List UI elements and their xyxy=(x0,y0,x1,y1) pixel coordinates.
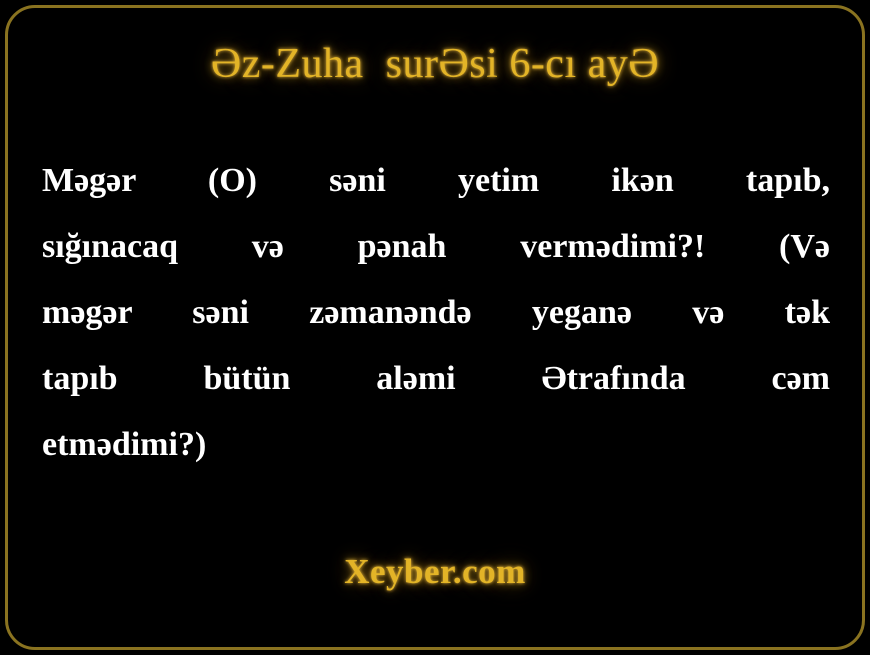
ayah-line: etmədimi?) xyxy=(42,412,830,478)
ayah-slide: Əz-Zuha surƏsi 6-cı ayƏ Məgər (O) səni y… xyxy=(0,0,870,655)
page-title: Əz-Zuha surƏsi 6-cı ayƏ xyxy=(40,0,830,88)
ayah-line: Məgər (O) səni yetim ikən tapıb, xyxy=(42,148,830,214)
ayah-text-block: Məgər (O) səni yetim ikən tapıb, sığınac… xyxy=(42,148,830,478)
slide-content: Əz-Zuha surƏsi 6-cı ayƏ Məgər (O) səni y… xyxy=(0,0,870,655)
site-brand-watermark: Xeyber.com xyxy=(0,552,870,592)
ayah-line: sığınacaq və pənah vermədimi?! (Və xyxy=(42,214,830,280)
ayah-line: tapıb bütün aləmi Ətrafında cəm xyxy=(42,346,830,412)
ayah-line: məgər səni zəmanəndə yeganə və tək xyxy=(42,280,830,346)
